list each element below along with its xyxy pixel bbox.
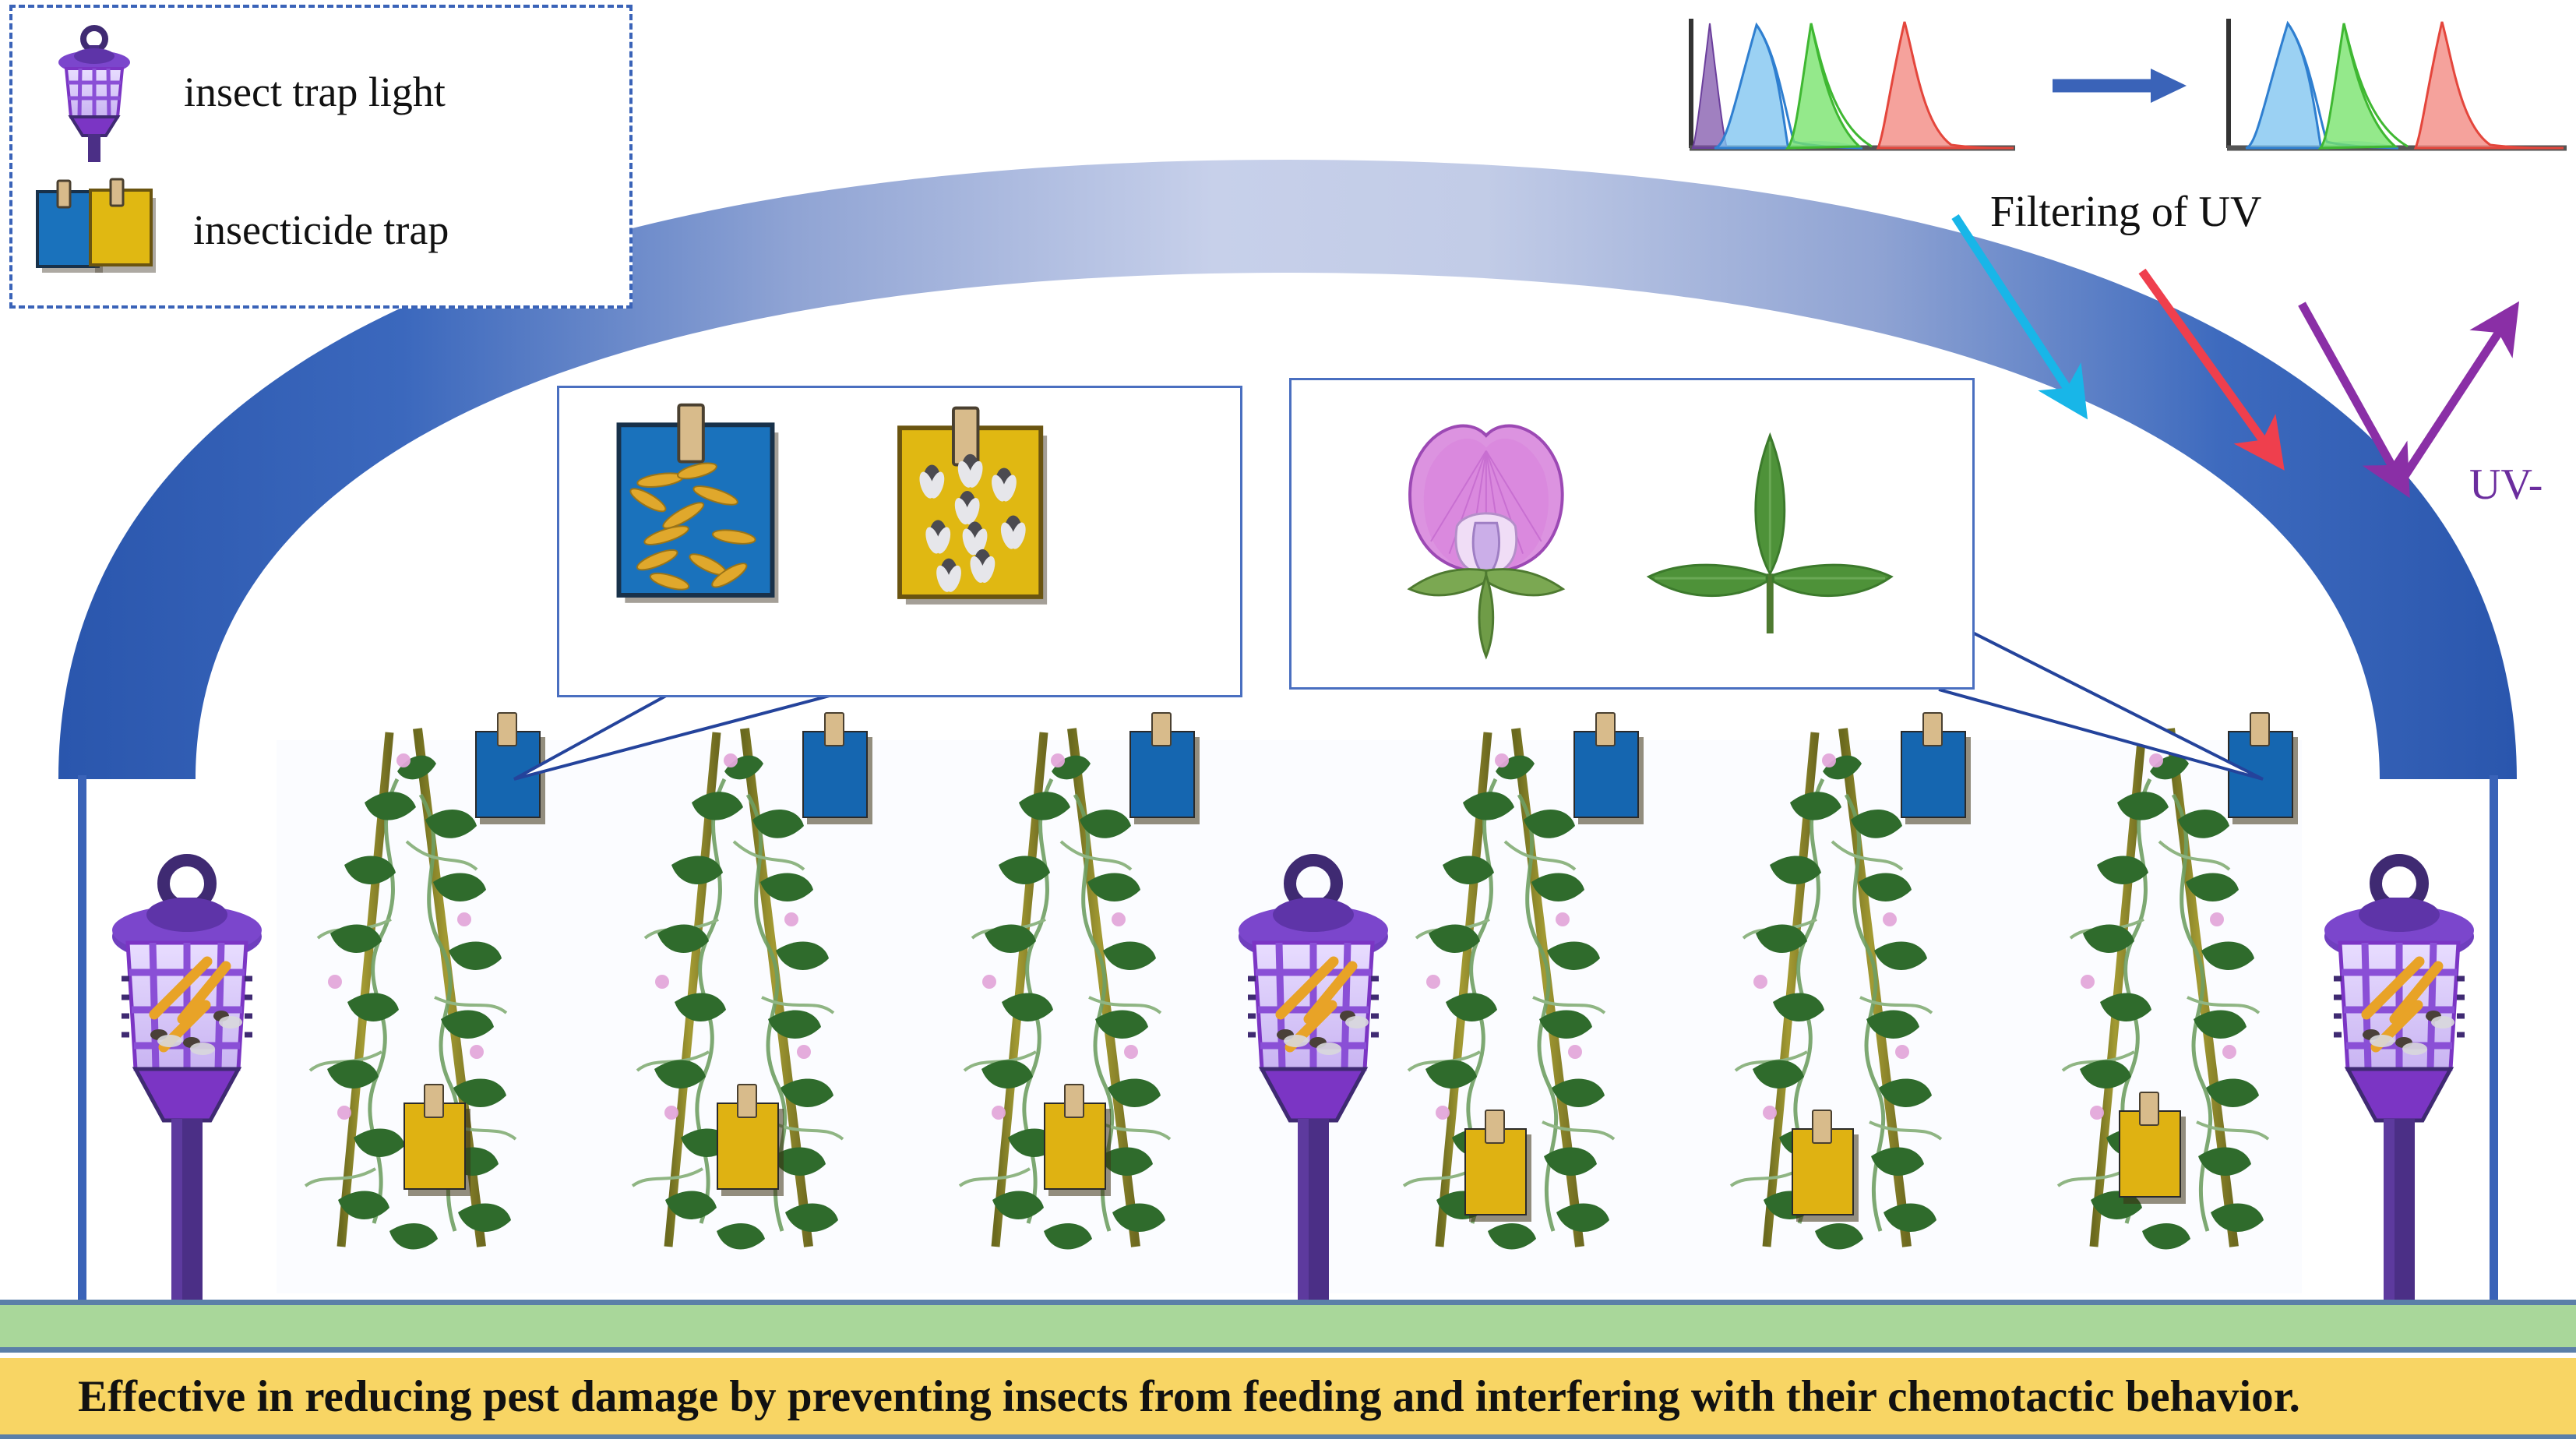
pea-flower-icon (1409, 425, 1563, 656)
uv-minus-label: UV- (2469, 460, 2543, 510)
sticky-trap-callout (557, 386, 1242, 697)
spectra-panel-after (2227, 19, 2567, 148)
plant-callout (1289, 378, 1975, 690)
green-peak (1788, 23, 1859, 148)
callout-pointer-plant (1939, 616, 2263, 779)
uv-filter-spectra-chart (1679, 8, 2571, 171)
yellow-trap-closeup (900, 408, 1047, 605)
green-peak-after (2321, 23, 2395, 148)
transition-arrow (2053, 69, 2187, 103)
blue-trap-closeup (618, 405, 778, 603)
legend-box: insect trap light insecticide trap (9, 5, 633, 309)
insecticide-trap-icon (30, 171, 162, 288)
legend-item-insecticide-trap: insecticide trap (30, 171, 449, 288)
legend-item-insect-trap-light: insect trap light (36, 22, 446, 162)
red-peak (1878, 22, 2014, 148)
filtering-of-uv-label: Filtering of UV (1990, 187, 2261, 237)
trifoliate-leaf-icon (1649, 436, 1891, 633)
legend-label-insecticide-trap: insecticide trap (193, 206, 449, 254)
sticky-trap-closeup-art (559, 388, 1240, 695)
red-peak-after (2416, 22, 2564, 148)
uv-peak (1693, 23, 1727, 148)
legend-label-insect-trap-light: insect trap light (184, 68, 446, 116)
plant-closeup-art (1292, 380, 1972, 687)
spectra-panel-before (1690, 19, 2015, 148)
figure-canvas: UV- (0, 0, 2576, 1443)
callout-pointer-traps (514, 696, 830, 779)
insect-trap-light-icon (36, 22, 153, 162)
